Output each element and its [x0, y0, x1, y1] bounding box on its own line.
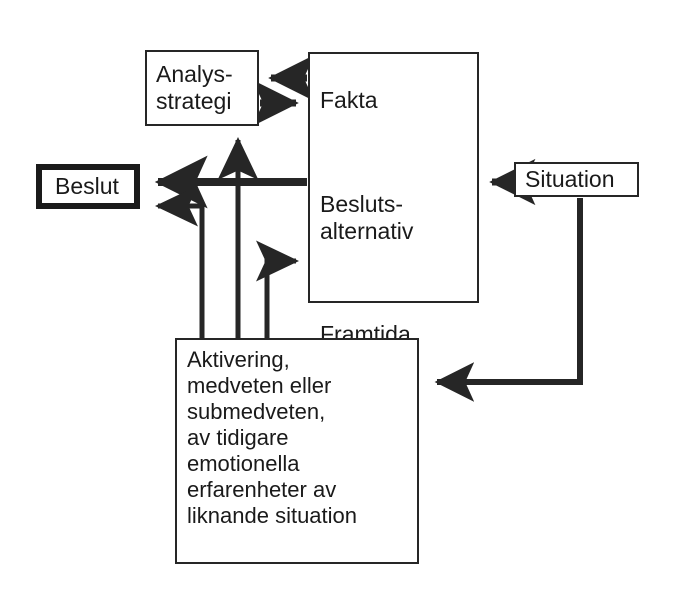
node-central-line-fakta: Fakta: [320, 87, 413, 114]
node-central-spacer-2: [320, 272, 413, 294]
decision-model-diagram: Analys- strategi Beslut Situation Fakta …: [0, 0, 683, 590]
node-emotional-memory[interactable]: Aktivering, medveten eller submedveten, …: [175, 338, 419, 564]
node-situation-label: Situation: [525, 166, 615, 193]
node-decision-elements[interactable]: Fakta Besluts- alternativ Framtida konse…: [308, 52, 479, 303]
node-central-spacer-1: [320, 141, 413, 163]
node-analysstrategi[interactable]: Analys- strategi: [145, 50, 259, 126]
edge-memory-to-framtida-konsekvenser: [267, 261, 296, 338]
node-beslut[interactable]: Beslut: [36, 164, 140, 209]
node-situation[interactable]: Situation: [514, 162, 639, 197]
edge-memory-to-beslut: [158, 206, 202, 338]
node-central-line-beslutsalternativ: Besluts- alternativ: [320, 191, 413, 245]
node-beslut-label: Beslut: [55, 173, 119, 200]
node-memory-label: Aktivering, medveten eller submedveten, …: [187, 347, 357, 529]
node-analysstrategi-label: Analys- strategi: [156, 61, 233, 115]
